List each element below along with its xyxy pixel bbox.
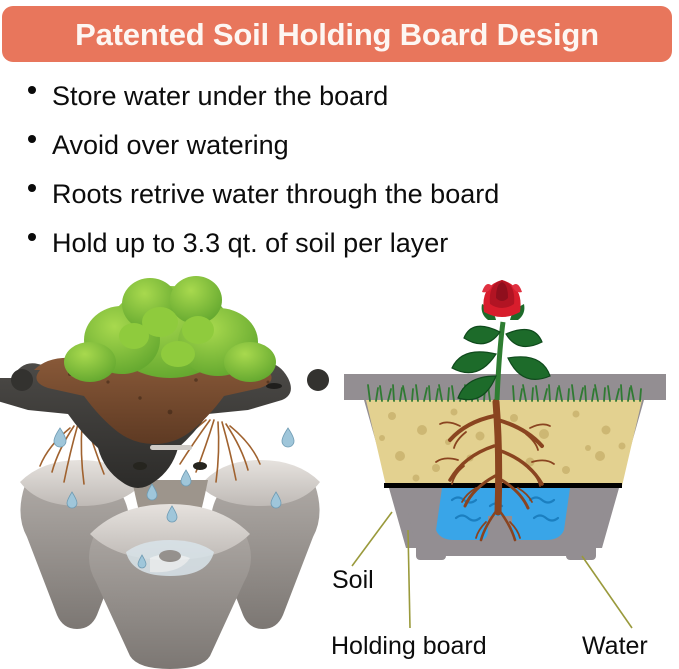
- bullet-icon: [28, 74, 52, 94]
- product-photo-illustration: [0, 270, 340, 669]
- bullet-icon: [28, 123, 52, 143]
- page-title-banner: Patented Soil Holding Board Design: [2, 6, 672, 62]
- list-item: Roots retrive water through the board: [28, 172, 668, 221]
- soil-layer: [366, 400, 642, 486]
- feature-list: Store water under the board Avoid over w…: [28, 74, 668, 270]
- feature-text: Store water under the board: [52, 74, 388, 118]
- bullet-icon: [28, 221, 52, 241]
- figure-area: [0, 270, 679, 669]
- list-item: Store water under the board: [28, 74, 668, 123]
- feature-text: Roots retrive water through the board: [52, 172, 499, 216]
- planter-pot: [20, 460, 320, 669]
- product-photo: [0, 270, 340, 669]
- callout-label-holding-board: Holding board: [331, 634, 487, 659]
- cross-section-illustration: [330, 270, 679, 669]
- list-item: Avoid over watering: [28, 123, 668, 172]
- feature-text: Hold up to 3.3 qt. of soil per layer: [52, 221, 448, 265]
- list-item: Hold up to 3.3 qt. of soil per layer: [28, 221, 668, 270]
- feature-text: Avoid over watering: [52, 123, 289, 167]
- rose-flower-icon: [482, 280, 525, 320]
- cross-section-diagram: [330, 270, 679, 669]
- callout-label-soil: Soil: [332, 568, 374, 593]
- bullet-icon: [28, 172, 52, 192]
- plant-foliage: [64, 276, 276, 382]
- page-title: Patented Soil Holding Board Design: [75, 19, 599, 50]
- callout-label-water: Water: [582, 634, 648, 659]
- holding-board-line: [384, 483, 622, 488]
